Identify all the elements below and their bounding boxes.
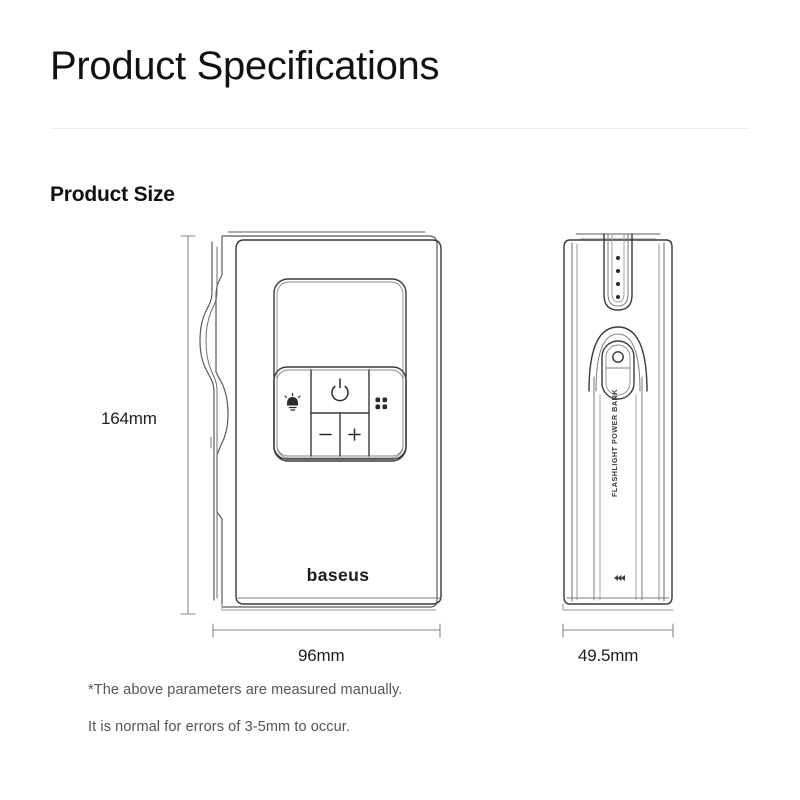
brand-logo-front: baseus (307, 565, 370, 585)
dimension-label-width-side: 49.5mm (578, 646, 638, 666)
side-view-brand-mark (614, 575, 625, 581)
dimension-label-height: 164mm (101, 409, 157, 429)
footnote-line-2: It is normal for errors of 3-5mm to occu… (88, 719, 350, 735)
grid-dots-icon[interactable] (376, 398, 388, 410)
side-view-indicator-recess-inner-2 (612, 234, 624, 302)
plus-button[interactable] (349, 429, 360, 440)
side-view-indicator-dots (616, 256, 620, 299)
front-view (200, 232, 441, 610)
dimension-label-width-front: 96mm (298, 646, 344, 666)
front-view-body (236, 240, 441, 604)
flashlight-icon[interactable] (285, 394, 300, 411)
product-size-diagram: baseus (0, 0, 800, 800)
side-view-bottom-shadow (563, 604, 673, 610)
front-view-back-shell (216, 236, 437, 607)
footnote-line-1: *The above parameters are measured manua… (88, 682, 402, 698)
side-view-lens-led (613, 352, 623, 362)
side-view-lens-housing-outer (589, 327, 647, 391)
side-view-product-text: FLASHLIGHT POWER BANK (610, 389, 619, 497)
power-icon[interactable] (332, 379, 348, 401)
front-view-edge-contour-outer (200, 242, 214, 600)
dimension-lines (181, 236, 673, 637)
